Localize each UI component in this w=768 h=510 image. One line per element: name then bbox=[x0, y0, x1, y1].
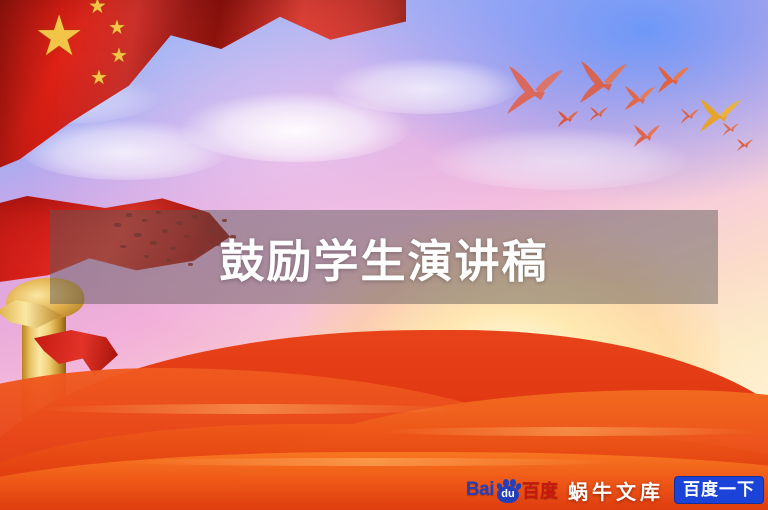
baidu-paw-text: du bbox=[501, 489, 514, 500]
page-title: 鼓励学生演讲稿 bbox=[219, 225, 548, 290]
site-name-watermark: 蜗牛文库 bbox=[568, 476, 664, 505]
bird-icon-11 bbox=[736, 138, 754, 152]
bird-icon-8 bbox=[633, 124, 661, 148]
baidu-paw-icon: du bbox=[495, 477, 521, 503]
baidu-chinese-text: 百度 bbox=[522, 477, 558, 503]
flag-small-star-1: ★ bbox=[88, 0, 107, 17]
china-national-flag: ★ ★ ★ ★ ★ bbox=[0, 0, 406, 210]
flag-large-star: ★ bbox=[34, 8, 84, 64]
bird-icon-7 bbox=[589, 106, 609, 122]
bird-icon-10 bbox=[722, 122, 740, 137]
flag-small-star-2: ★ bbox=[108, 18, 126, 38]
title-band: 鼓励学生演讲稿 bbox=[50, 210, 718, 304]
baidu-search-button[interactable]: 百度一下 bbox=[674, 476, 764, 505]
paw-pad: du bbox=[497, 486, 519, 503]
bird-icon-2 bbox=[578, 58, 630, 106]
thumbnail-canvas: ★ ★ ★ ★ ★ bbox=[0, 0, 768, 510]
flag-small-star-4: ★ bbox=[90, 68, 108, 88]
branding-bar: Bai du 百度 蜗牛文库 百度一下 bbox=[466, 474, 764, 506]
bird-icon-6 bbox=[557, 110, 579, 128]
baidu-latin-text: Bai bbox=[466, 479, 494, 501]
flag-small-star-3: ★ bbox=[110, 46, 128, 66]
baidu-logo[interactable]: Bai du 百度 bbox=[466, 477, 558, 503]
bird-icon-4 bbox=[656, 64, 690, 96]
bird-icon-9 bbox=[680, 108, 700, 125]
bird-icon-3 bbox=[624, 84, 656, 112]
